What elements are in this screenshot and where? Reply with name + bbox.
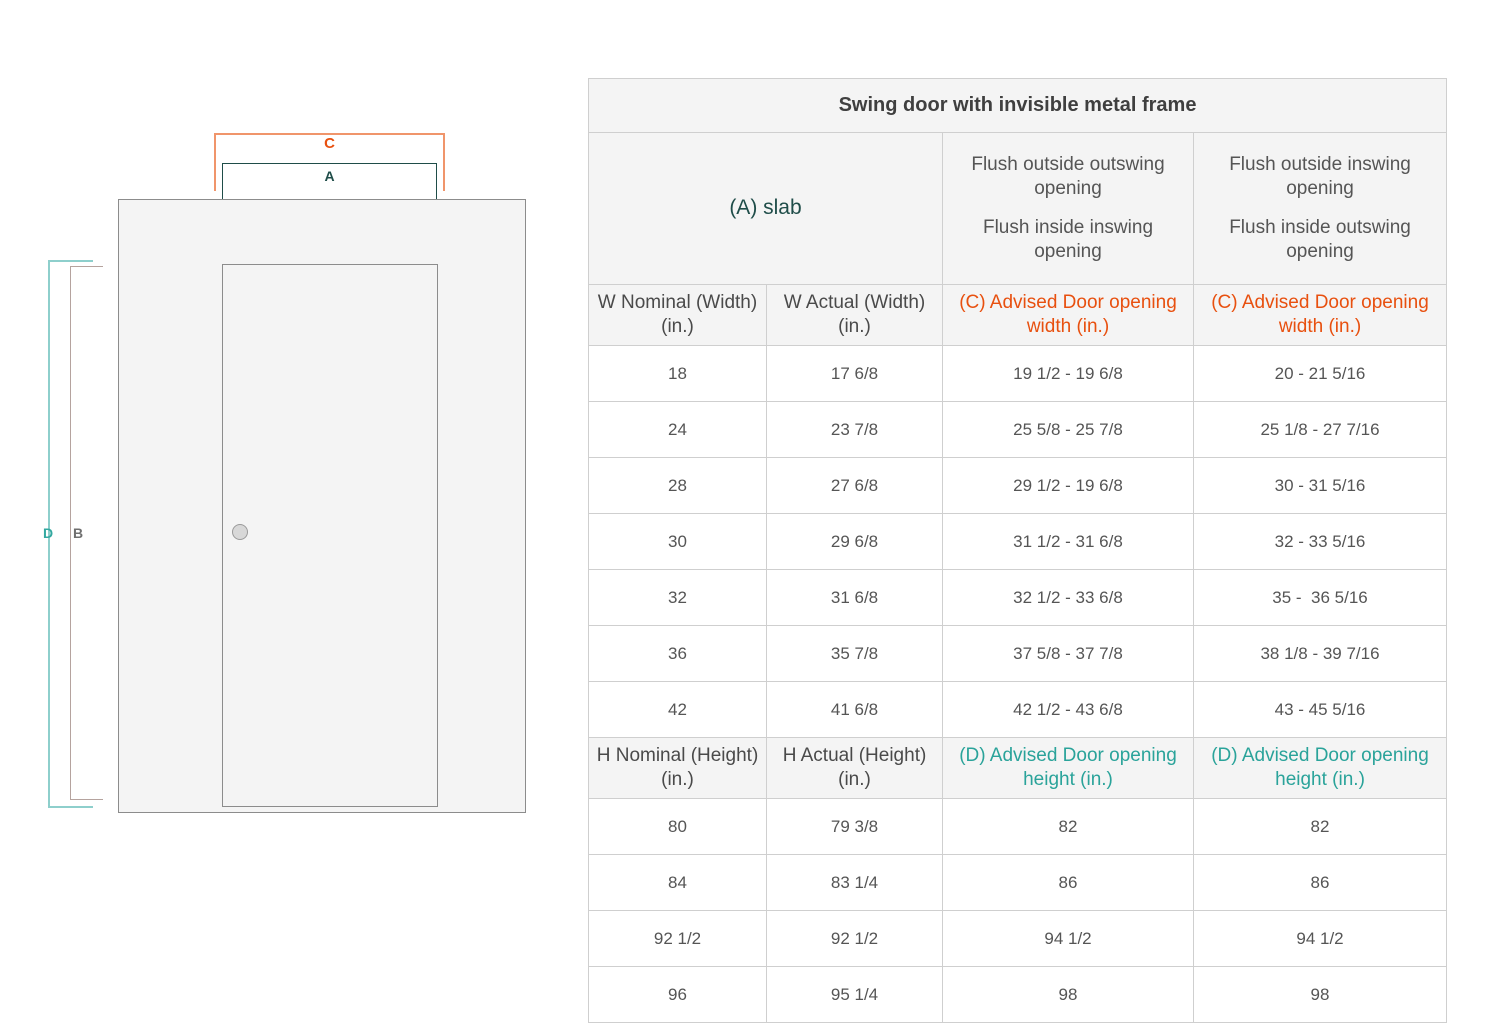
door-size-spec-table: Swing door with invisible metal frame (A…	[588, 78, 1447, 1023]
cell-h-actual: 79 3/8	[767, 799, 943, 855]
cell-w-nominal: 32	[589, 570, 767, 626]
table-row: 92 1/2 92 1/2 94 1/2 94 1/2	[589, 911, 1447, 967]
cell-w-inswing: 43 - 45 5/16	[1194, 682, 1447, 738]
height-header-advised-outswing: (D) Advised Door opening height (in.)	[943, 738, 1194, 799]
table-row: 28 27 6/8 29 1/2 - 19 6/8 30 - 31 5/16	[589, 458, 1447, 514]
cell-w-outswing: 31 1/2 - 31 6/8	[943, 514, 1194, 570]
cell-w-inswing: 20 - 21 5/16	[1194, 346, 1447, 402]
cell-h-nominal: 96	[589, 967, 767, 1023]
height-header-nominal: H Nominal (Height) (in.)	[589, 738, 767, 799]
cell-w-actual: 41 6/8	[767, 682, 943, 738]
height-header-actual: H Actual (Height) (in.)	[767, 738, 943, 799]
table-row: 18 17 6/8 19 1/2 - 19 6/8 20 - 21 5/16	[589, 346, 1447, 402]
table-group-header-row: (A) slab Flush outside outswing opening …	[589, 133, 1447, 285]
cell-w-inswing: 35 - 36 5/16	[1194, 570, 1447, 626]
spacer	[949, 202, 1187, 216]
table-row: 96 95 1/4 98 98	[589, 967, 1447, 1023]
cell-w-outswing: 19 1/2 - 19 6/8	[943, 346, 1194, 402]
cell-w-nominal: 42	[589, 682, 767, 738]
height-header-advised-inswing: (D) Advised Door opening height (in.)	[1194, 738, 1447, 799]
cell-w-nominal: 30	[589, 514, 767, 570]
cell-w-inswing: 25 1/8 - 27 7/16	[1194, 402, 1447, 458]
group-header-inswing-line1: Flush outside inswing opening	[1229, 154, 1411, 199]
cell-w-actual: 17 6/8	[767, 346, 943, 402]
door-dimension-diagram: C A D B	[0, 0, 580, 1000]
cell-h-inswing: 86	[1194, 855, 1447, 911]
table-row: 32 31 6/8 32 1/2 - 33 6/8 35 - 36 5/16	[589, 570, 1447, 626]
cell-w-actual: 31 6/8	[767, 570, 943, 626]
cell-w-actual: 27 6/8	[767, 458, 943, 514]
cell-h-outswing: 98	[943, 967, 1194, 1023]
cell-w-outswing: 37 5/8 - 37 7/8	[943, 626, 1194, 682]
cell-h-inswing: 98	[1194, 967, 1447, 1023]
spacer	[1200, 202, 1440, 216]
width-header-row: W Nominal (Width) (in.) W Actual (Width)…	[589, 285, 1447, 346]
door-knob-icon	[232, 524, 248, 540]
dimension-label-c: C	[214, 134, 445, 154]
table-row: 80 79 3/8 82 82	[589, 799, 1447, 855]
group-header-outswing-line1: Flush outside outswing opening	[971, 154, 1164, 199]
width-header-actual: W Actual (Width) (in.)	[767, 285, 943, 346]
cell-h-outswing: 94 1/2	[943, 911, 1194, 967]
cell-w-outswing: 25 5/8 - 25 7/8	[943, 402, 1194, 458]
cell-w-inswing: 32 - 33 5/16	[1194, 514, 1447, 570]
cell-h-actual: 83 1/4	[767, 855, 943, 911]
table-row: 84 83 1/4 86 86	[589, 855, 1447, 911]
cell-w-outswing: 42 1/2 - 43 6/8	[943, 682, 1194, 738]
door-panel-shape	[222, 264, 438, 807]
cell-w-outswing: 32 1/2 - 33 6/8	[943, 570, 1194, 626]
width-header-nominal: W Nominal (Width) (in.)	[589, 285, 767, 346]
cell-w-actual: 35 7/8	[767, 626, 943, 682]
cell-w-nominal: 18	[589, 346, 767, 402]
cell-w-actual: 23 7/8	[767, 402, 943, 458]
width-header-advised-inswing: (C) Advised Door opening width (in.)	[1194, 285, 1447, 346]
cell-h-outswing: 86	[943, 855, 1194, 911]
height-header-row: H Nominal (Height) (in.) H Actual (Heigh…	[589, 738, 1447, 799]
cell-w-nominal: 28	[589, 458, 767, 514]
table-title-row: Swing door with invisible metal frame	[589, 79, 1447, 133]
dimension-label-a: A	[222, 166, 437, 186]
cell-w-nominal: 24	[589, 402, 767, 458]
cell-w-inswing: 38 1/8 - 39 7/16	[1194, 626, 1447, 682]
cell-h-nominal: 84	[589, 855, 767, 911]
table-row: 42 41 6/8 42 1/2 - 43 6/8 43 - 45 5/16	[589, 682, 1447, 738]
cell-h-nominal: 80	[589, 799, 767, 855]
group-header-slab: (A) slab	[589, 133, 943, 285]
group-header-outswing: Flush outside outswing opening Flush ins…	[943, 133, 1194, 285]
cell-h-outswing: 82	[943, 799, 1194, 855]
cell-w-inswing: 30 - 31 5/16	[1194, 458, 1447, 514]
table-title: Swing door with invisible metal frame	[589, 79, 1447, 133]
cell-h-inswing: 94 1/2	[1194, 911, 1447, 967]
cell-w-actual: 29 6/8	[767, 514, 943, 570]
group-header-outswing-line2: Flush inside inswing opening	[983, 217, 1153, 262]
cell-w-nominal: 36	[589, 626, 767, 682]
dimension-label-b: B	[73, 524, 83, 542]
group-header-inswing: Flush outside inswing opening Flush insi…	[1194, 133, 1447, 285]
cell-h-actual: 95 1/4	[767, 967, 943, 1023]
table-row: 30 29 6/8 31 1/2 - 31 6/8 32 - 33 5/16	[589, 514, 1447, 570]
cell-h-actual: 92 1/2	[767, 911, 943, 967]
dimension-label-d: D	[43, 524, 53, 542]
width-header-advised-outswing: (C) Advised Door opening width (in.)	[943, 285, 1194, 346]
cell-h-inswing: 82	[1194, 799, 1447, 855]
table-row: 24 23 7/8 25 5/8 - 25 7/8 25 1/8 - 27 7/…	[589, 402, 1447, 458]
group-header-inswing-line2: Flush inside outswing opening	[1229, 217, 1411, 262]
cell-h-nominal: 92 1/2	[589, 911, 767, 967]
table-row: 36 35 7/8 37 5/8 - 37 7/8 38 1/8 - 39 7/…	[589, 626, 1447, 682]
cell-w-outswing: 29 1/2 - 19 6/8	[943, 458, 1194, 514]
